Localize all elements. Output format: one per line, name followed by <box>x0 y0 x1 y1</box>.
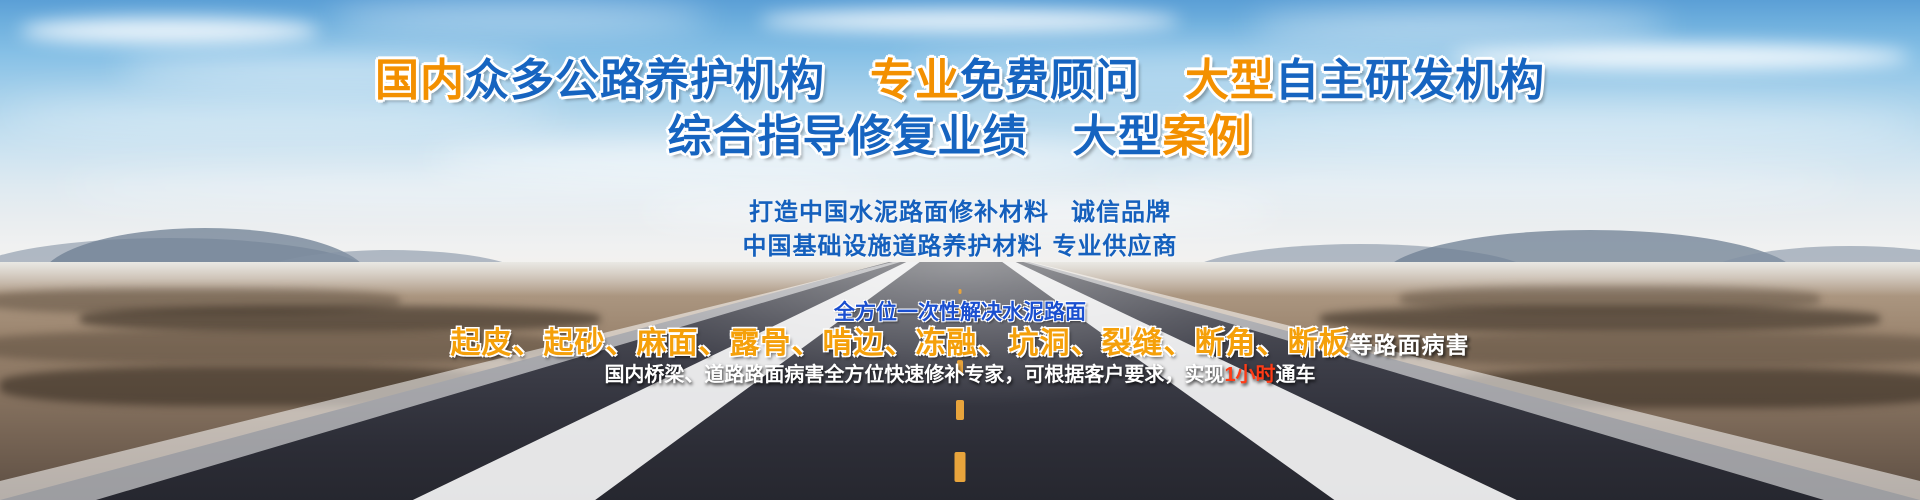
bottom-claim-before: 国内桥梁、道路路面病害全方位快速修补专家，可根据客户要求，实现 <box>604 364 1224 386</box>
subtext-line-1: 打造中国水泥路面修补材料诚信品牌 <box>0 192 1920 227</box>
headline-spacer <box>1140 56 1185 105</box>
headline-segment: 综合指导修复业绩 <box>668 112 1028 161</box>
bottom-claim-highlight: 1小时 <box>1224 364 1275 386</box>
bottom-claim-after: 通车 <box>1276 364 1316 386</box>
headline-segment: 自主研发机构 <box>1275 56 1545 105</box>
subtext-line-2: 中国基础设施道路养护材料专业供应商 <box>0 226 1920 261</box>
bottom-line-3: 国内桥梁、道路路面病害全方位快速修补专家，可根据客户要求，实现1小时通车 <box>0 358 1920 387</box>
headline-segment: 大型 <box>1185 56 1275 105</box>
subtext-part: 专业供应商 <box>1053 233 1178 260</box>
damage-type-list: 起皮、起砂、麻面、露骨、啃边、冻融、坑洞、裂缝、断角、断板 <box>451 327 1350 360</box>
headline-spacer <box>825 56 870 105</box>
damage-suffix: 等路面病害 <box>1350 332 1470 358</box>
subtext-part: 中国基础设施道路养护材料 <box>743 233 1043 260</box>
headline-segment: 众多公路养护机构 <box>465 56 825 105</box>
bottom-line-2: 起皮、起砂、麻面、露骨、啃边、冻融、坑洞、裂缝、断角、断板等路面病害 <box>0 318 1920 362</box>
subtext-part: 诚信品牌 <box>1071 199 1171 226</box>
headline-line-2: 综合指导修复业绩 大型案例 <box>0 100 1920 164</box>
subtext-part: 打造中国水泥路面修补材料 <box>749 199 1049 226</box>
promotional-banner: 国内众多公路养护机构 专业免费顾问 大型自主研发机构 综合指导修复业绩 大型案例… <box>0 0 1920 500</box>
headline-segment: 专业 <box>870 56 960 105</box>
headline-segment: 大型 <box>1073 112 1163 161</box>
headline-line-1: 国内众多公路养护机构 专业免费顾问 大型自主研发机构 <box>0 44 1920 108</box>
headline-segment: 免费顾问 <box>960 56 1140 105</box>
text-overlay: 国内众多公路养护机构 专业免费顾问 大型自主研发机构 综合指导修复业绩 大型案例… <box>0 0 1920 500</box>
headline-segment: 案例 <box>1163 112 1253 161</box>
headline-spacer <box>1028 112 1073 161</box>
headline-segment: 国内 <box>375 56 465 105</box>
